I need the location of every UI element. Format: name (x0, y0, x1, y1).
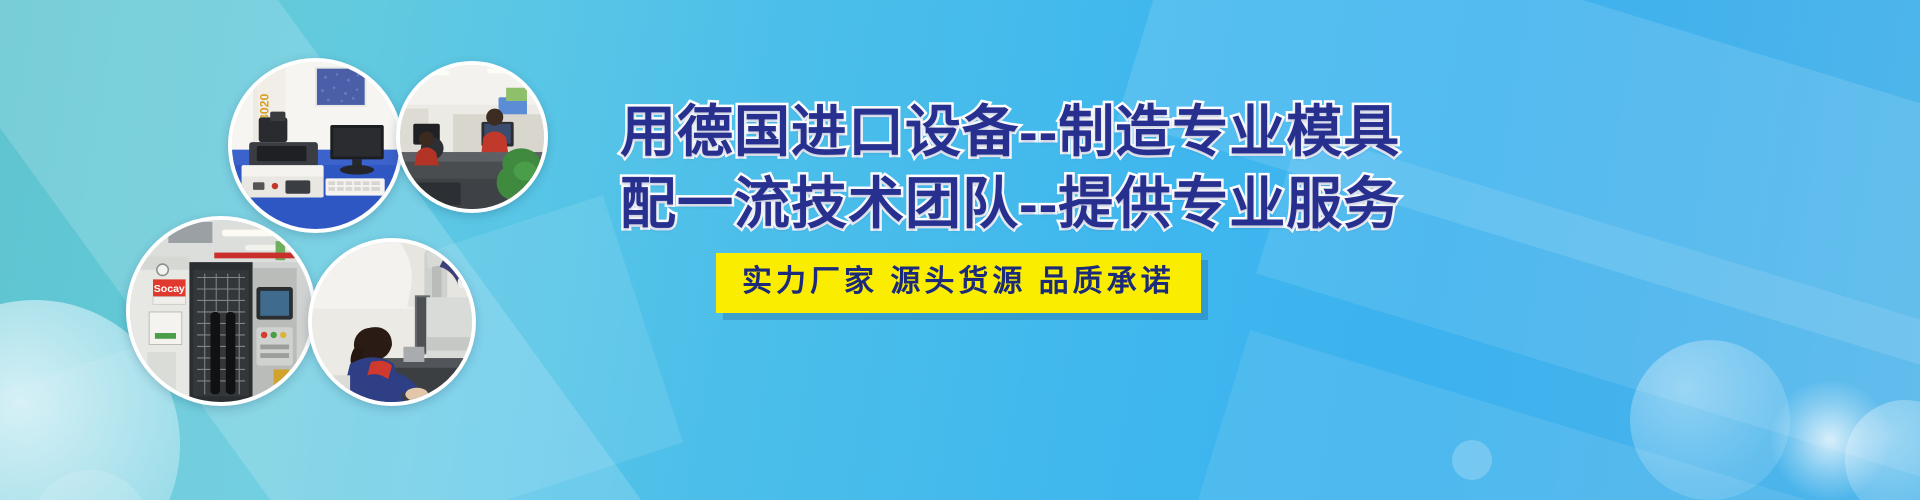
photo-cnc-machining-center: Socay (126, 216, 316, 406)
bubble-decoration (1452, 440, 1492, 480)
office-workstations-image (400, 65, 544, 209)
cnc-machining-center-image: Socay (130, 220, 312, 402)
promo-banner: HT-3020 (0, 0, 1920, 500)
photo-optical-measuring-machine: HT-3020 (228, 58, 403, 233)
headline-line-1: 用德国进口设备--制造专业模具 (620, 96, 1380, 168)
bubble-decoration (1630, 340, 1790, 500)
bubble-glow-decoration (1770, 380, 1890, 500)
photo-cluster: HT-3020 (118, 48, 578, 404)
headline-line-2: 配一流技术团队--提供专业服务 (620, 168, 1380, 240)
slogan-badge: 实力厂家 源头货源 品质承诺 (716, 253, 1201, 313)
bubble-decoration (1845, 400, 1920, 500)
diagonal-light-band (1183, 330, 1920, 500)
svg-text:Socay: Socay (154, 283, 185, 295)
optical-measuring-machine-image: HT-3020 (232, 62, 399, 229)
bubble-decoration (30, 470, 150, 500)
photo-cmm-inspection (308, 238, 476, 406)
badge-container: 实力厂家 源头货源 品质承诺 (716, 253, 1201, 313)
headline: 用德国进口设备--制造专业模具 配一流技术团队--提供专业服务 (620, 96, 1380, 240)
cmm-inspection-image (312, 242, 472, 402)
photo-office-workstations (396, 61, 548, 213)
